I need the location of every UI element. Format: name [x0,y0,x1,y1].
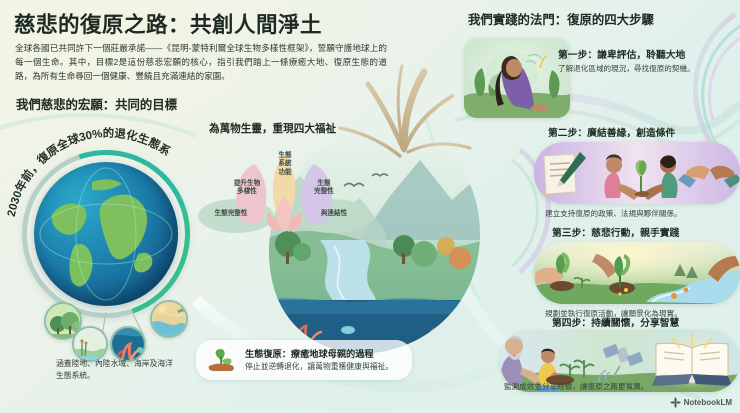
lotus-petal-integrity-bottom: 生態完整性 [203,210,259,218]
hand-holding-sprout-icon [207,347,237,373]
section-heading-lotus: 為萬物生靈，重現四大福祉 [209,121,336,136]
coral-ecosystem-icon [110,326,146,362]
step-2-title: 第二步：廣結善緣，創造條件 [548,125,675,139]
watermark-label: NotebookLM [684,398,732,407]
globe-target-graphic [22,150,190,318]
earth-globe-icon [34,162,178,306]
lotus-petal-ecosystem-function: 生態 系統 功能 [268,152,302,177]
watermark: NotebookLM [670,397,732,408]
coast-ecosystem-icon [150,300,188,338]
step-3-title: 第三步：慈悲行動，親手實踐 [552,225,679,239]
lotus-benefits-graphic: 生態 系統 功能 提升生物 多樣性 生態 完整性 生態完整性 與連結性 [196,138,372,238]
section-heading-vision: 我們慈悲的宏願：共同的目標 [16,95,177,113]
section-heading-path: 我們實踐的法門：復原的四大步驟 [468,10,654,28]
step-1-illustration [464,38,570,118]
lotus-petal-ecosystem-integrity: 生態 完整性 [304,180,344,197]
step-2-desc: 建立支持復原的政策、法規與夥伴關係。 [545,208,682,219]
ecosystems-caption: 涵蓋陸地、內陸水域、海岸及海洋生態系統。 [56,358,176,381]
intro-paragraph: 全球各國已共同許下一個莊嚴承諾——《昆明-蒙特利爾全球生物多樣性框架》，誓願守護… [15,42,387,84]
step-3-illustration [534,242,740,304]
lotus-petal-connectivity: 與連結性 [308,210,360,218]
step-1-title: 第一步：謙卑評估，聆聽大地 [558,47,685,61]
definition-title: 生態復原：療癒地球母親的過程 [245,348,393,361]
lotus-petal-biodiversity: 提升生物 多樣性 [226,180,268,197]
page-title: 慈悲的復原之路：共創人間淨土 [14,8,454,39]
notebooklm-logo-icon [670,397,681,408]
definition-callout: 生態復原：療癒地球母親的過程 停止並逆轉退化，讓萬物重獲健康與福祉。 [196,340,412,380]
infographic-canvas: 慈悲的復原之路：共創人間淨土 全球各國已共同許下一個莊嚴承諾——《昆明-蒙特利爾… [0,0,740,413]
step-4-title: 第四步：持續關懷，分享智慧 [552,315,679,329]
step-4-desc: 監測成效並分享經驗，讓復原之路更寬廣。 [504,381,648,392]
definition-subtitle: 停止並逆轉退化，讓萬物重獲健康與福祉。 [245,361,393,372]
wetland-ecosystem-icon [72,326,108,362]
step-1-desc: 了解退化區域的現況，尋找復原的契機。 [558,63,695,74]
step-2-illustration [534,142,740,204]
